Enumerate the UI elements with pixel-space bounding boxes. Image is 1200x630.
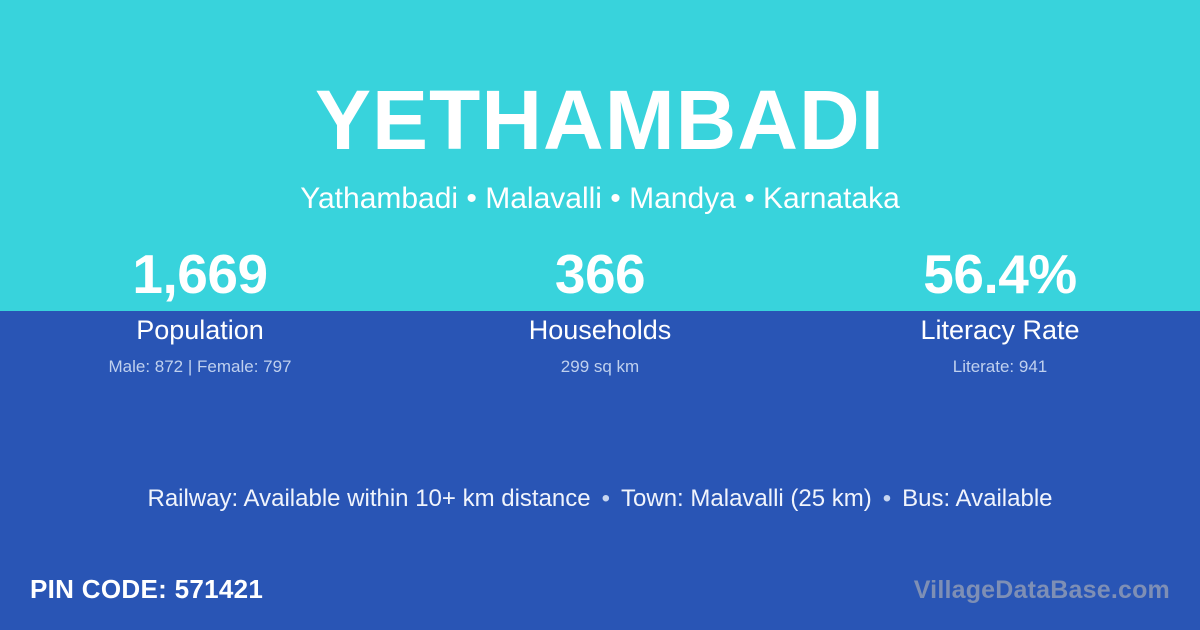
amenities-line: Railway: Available within 10+ km distanc… xyxy=(0,484,1200,514)
stat-sub-population: Male: 872 | Female: 797 xyxy=(0,358,400,377)
stat-sub-households: 299 sq km xyxy=(400,358,800,377)
card-header: YETHAMBADI Yathambadi • Malavalli • Mand… xyxy=(0,0,1200,215)
pin-code: PIN CODE: 571421 xyxy=(30,574,263,605)
stat-value-households: 366 xyxy=(400,244,800,310)
amenity-separator-1: • xyxy=(591,484,621,514)
stat-label-households: Households xyxy=(400,316,800,346)
stat-label-population: Population xyxy=(0,316,400,346)
amenity-bus: Bus: Available xyxy=(902,485,1052,512)
brand-watermark: VillageDataBase.com xyxy=(914,576,1170,605)
village-info-card: YETHAMBADI Yathambadi • Malavalli • Mand… xyxy=(0,0,1200,630)
stat-value-literacy-rate: 56.4% xyxy=(800,244,1200,310)
stat-value-population: 1,669 xyxy=(0,244,400,310)
breadcrumb: Yathambadi • Malavalli • Mandya • Karnat… xyxy=(0,182,1200,215)
stat-sub-literacy-rate: Literate: 941 xyxy=(800,358,1200,377)
stat-population: 1,669 Population Male: 872 | Female: 797 xyxy=(0,244,400,376)
stat-households: 366 Households 299 sq km xyxy=(400,244,800,376)
stat-literacy-rate: 56.4% Literacy Rate Literate: 941 xyxy=(800,244,1200,376)
amenity-separator-2: • xyxy=(872,484,902,514)
page-title: YETHAMBADI xyxy=(0,78,1200,162)
card-footer: PIN CODE: 571421 VillageDataBase.com xyxy=(0,555,1200,630)
stat-label-literacy-rate: Literacy Rate xyxy=(800,316,1200,346)
amenity-town: Town: Malavalli (25 km) xyxy=(621,485,872,512)
statistics-row: 1,669 Population Male: 872 | Female: 797… xyxy=(0,244,1200,376)
amenity-railway: Railway: Available within 10+ km distanc… xyxy=(148,485,591,512)
